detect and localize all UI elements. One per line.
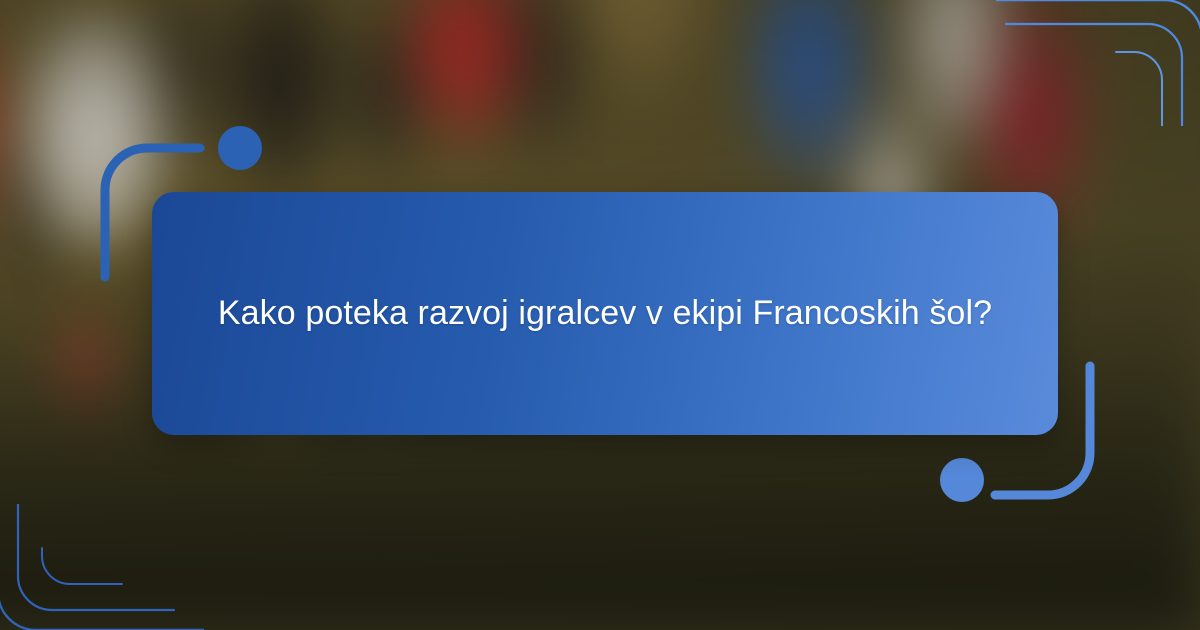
social-card-canvas: Kako poteka razvoj igralcev v ekipi Fran… xyxy=(0,0,1200,630)
page-title: Kako poteka razvoj igralcev v ekipi Fran… xyxy=(218,287,992,340)
accent-dot-top-left-icon xyxy=(218,126,262,170)
accent-dot-bottom-right-icon xyxy=(940,458,984,502)
headline-card: Kako poteka razvoj igralcev v ekipi Fran… xyxy=(152,192,1058,435)
